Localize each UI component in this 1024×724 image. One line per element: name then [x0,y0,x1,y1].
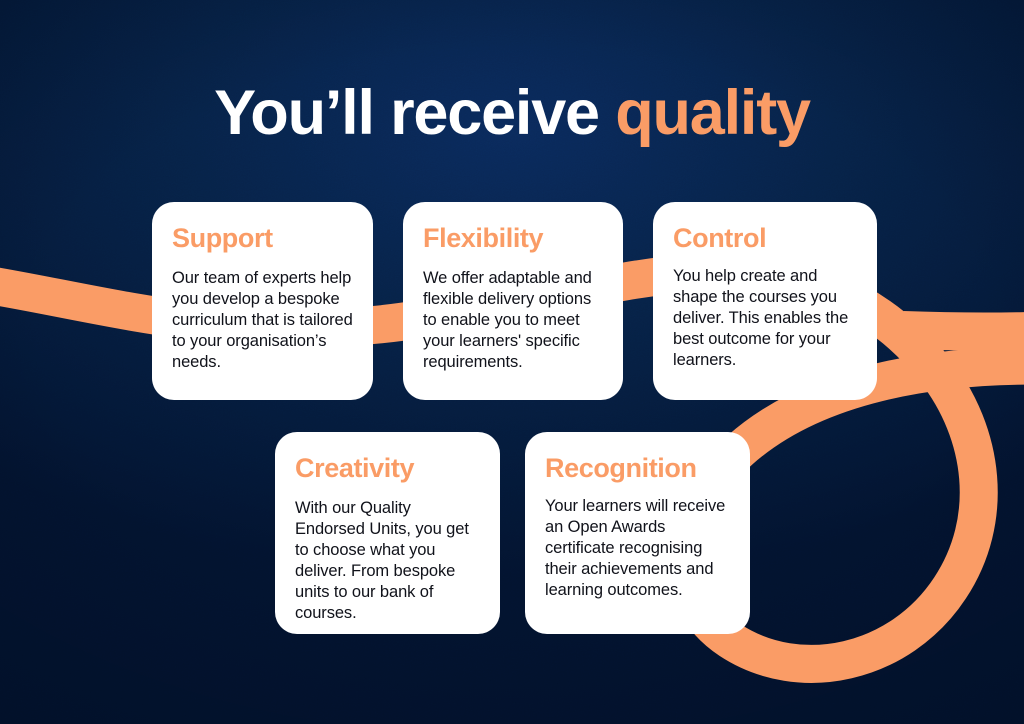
feature-card-body: Your learners will receive an Open Award… [545,496,730,602]
feature-card-control[interactable]: Control You help create and shape the co… [653,202,877,400]
feature-card-recognition[interactable]: Recognition Your learners will receive a… [525,432,750,634]
feature-card-title: Recognition [545,454,730,484]
page-title: You’ll receive quality [0,80,1024,146]
feature-card-creativity[interactable]: Creativity With our Quality Endorsed Uni… [275,432,500,634]
page-title-accent: quality [615,78,810,148]
poster-canvas: You’ll receive quality Support Our team … [0,0,1024,724]
feature-card-support[interactable]: Support Our team of experts help you dev… [152,202,373,400]
feature-card-body: We offer adaptable and flexible delivery… [423,268,603,374]
feature-card-body: Our team of experts help you develop a b… [172,268,353,374]
feature-card-title: Flexibility [423,224,603,254]
feature-card-title: Control [673,224,857,254]
feature-card-title: Creativity [295,454,480,484]
feature-card-body: You help create and shape the courses yo… [673,266,857,372]
feature-card-title: Support [172,224,353,254]
feature-card-body: With our Quality Endorsed Units, you get… [295,498,480,625]
feature-card-flexibility[interactable]: Flexibility We offer adaptable and flexi… [403,202,623,400]
page-title-plain: You’ll receive [214,78,615,148]
